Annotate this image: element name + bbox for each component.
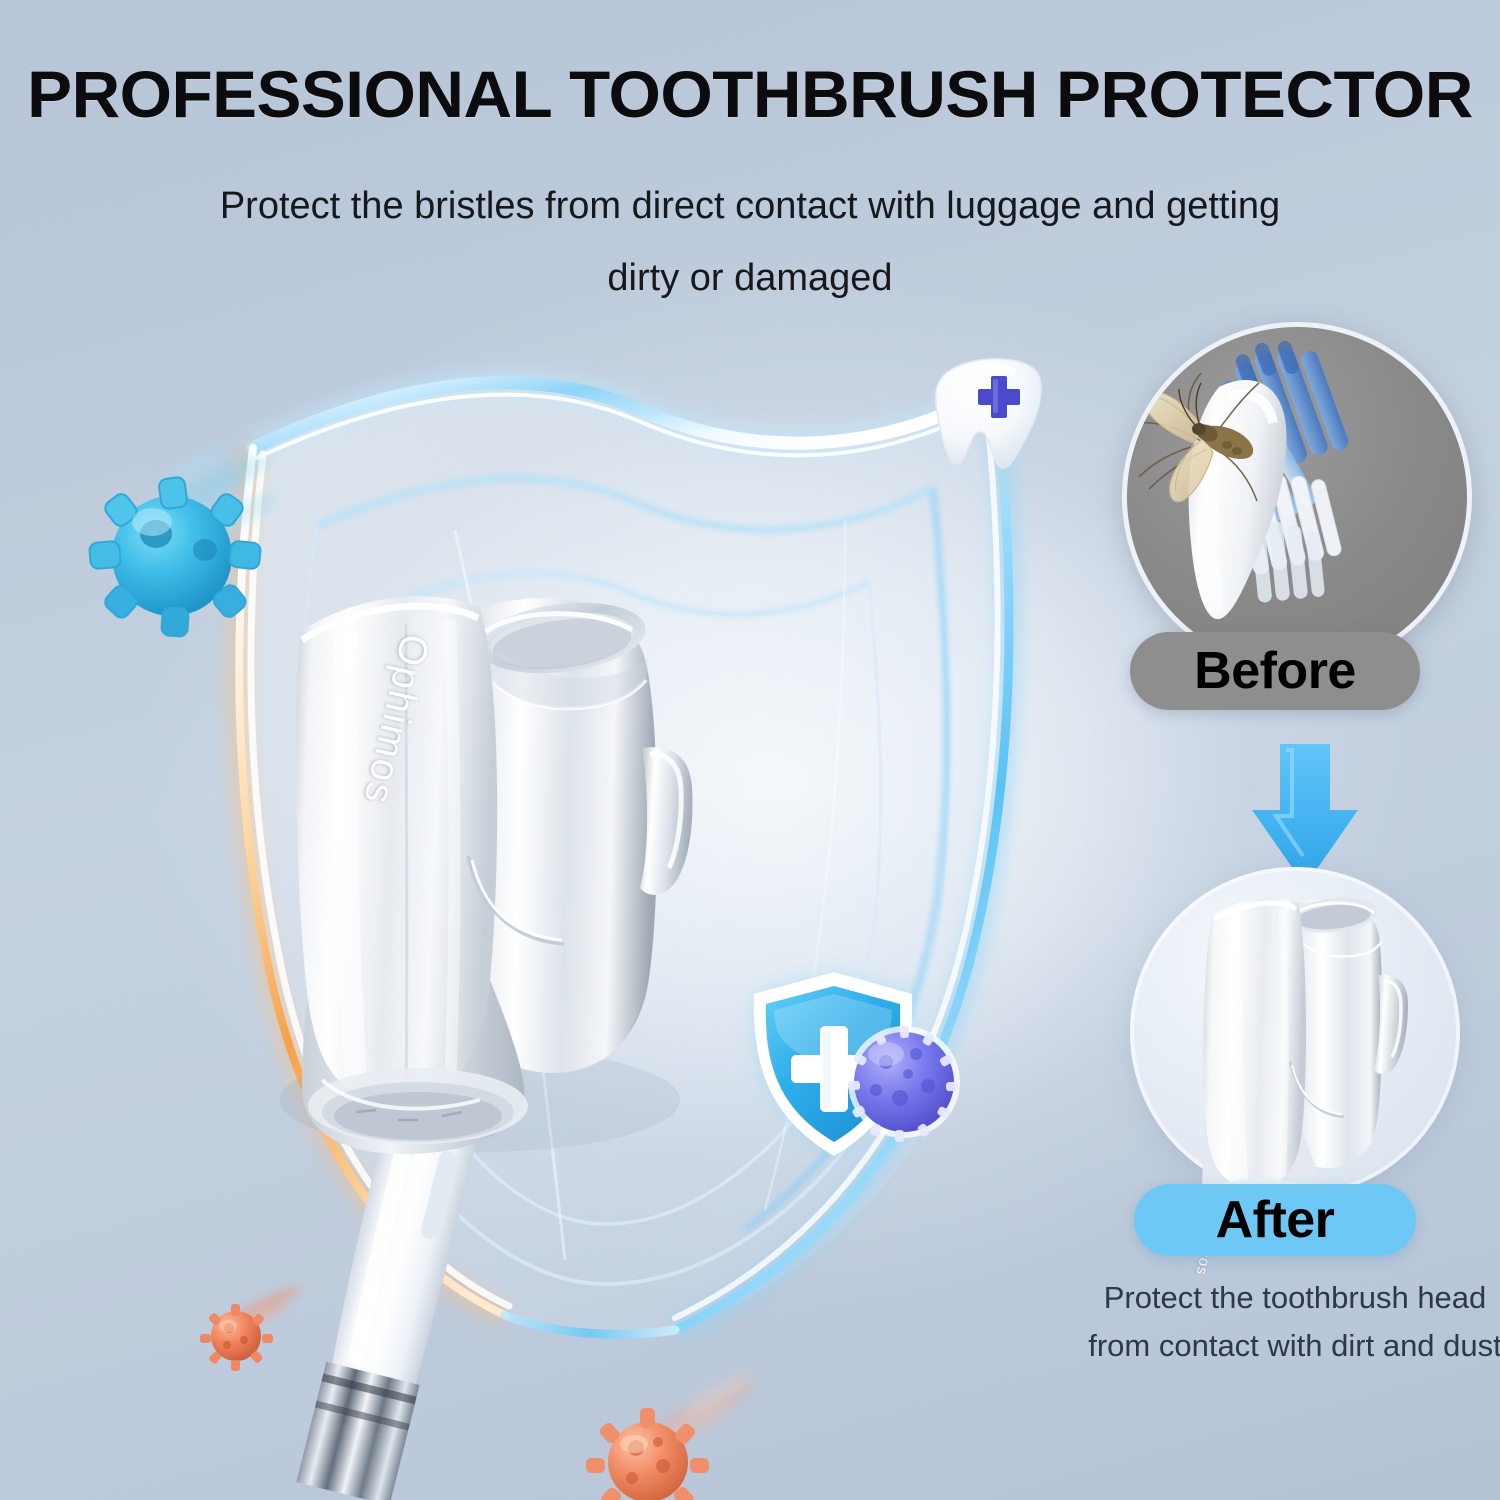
- before-photo: [1122, 322, 1472, 672]
- after-label-pill: After: [1134, 1184, 1416, 1256]
- orange-virus-icon: [578, 1378, 758, 1500]
- before-after-comparison: Before: [1100, 322, 1490, 1362]
- glass-shield-icon: [205, 330, 1035, 1340]
- product-marketing-image: PROFESSIONAL TOOTHBRUSH PROTECTOR Protec…: [0, 0, 1500, 1500]
- tooth-with-cross-icon: [915, 342, 1065, 492]
- brand-label: Ophimos: [354, 630, 437, 810]
- caption-line-1: Protect the toothbrush head: [1040, 1274, 1500, 1322]
- comparison-caption: Protect the toothbrush head from contact…: [1040, 1274, 1500, 1370]
- subtitle: Protect the bristles from direct contact…: [150, 170, 1350, 314]
- before-label-pill: Before: [1130, 632, 1420, 710]
- blue-virus-icon: [64, 438, 284, 658]
- after-photo: [1130, 867, 1460, 1197]
- protector-cap-icon: [150, 540, 870, 1500]
- before-label: Before: [1194, 641, 1356, 701]
- page-title: PROFESSIONAL TOOTHBRUSH PROTECTOR: [0, 56, 1500, 132]
- subtitle-line-2: dirty or damaged: [150, 242, 1350, 314]
- after-label: After: [1216, 1190, 1335, 1250]
- caption-line-2: from contact with dirt and dust: [1040, 1322, 1500, 1370]
- blue-shield-cross-icon: [722, 960, 952, 1185]
- subtitle-line-1: Protect the bristles from direct contact…: [150, 170, 1350, 242]
- orange-virus-icon: [196, 1280, 306, 1380]
